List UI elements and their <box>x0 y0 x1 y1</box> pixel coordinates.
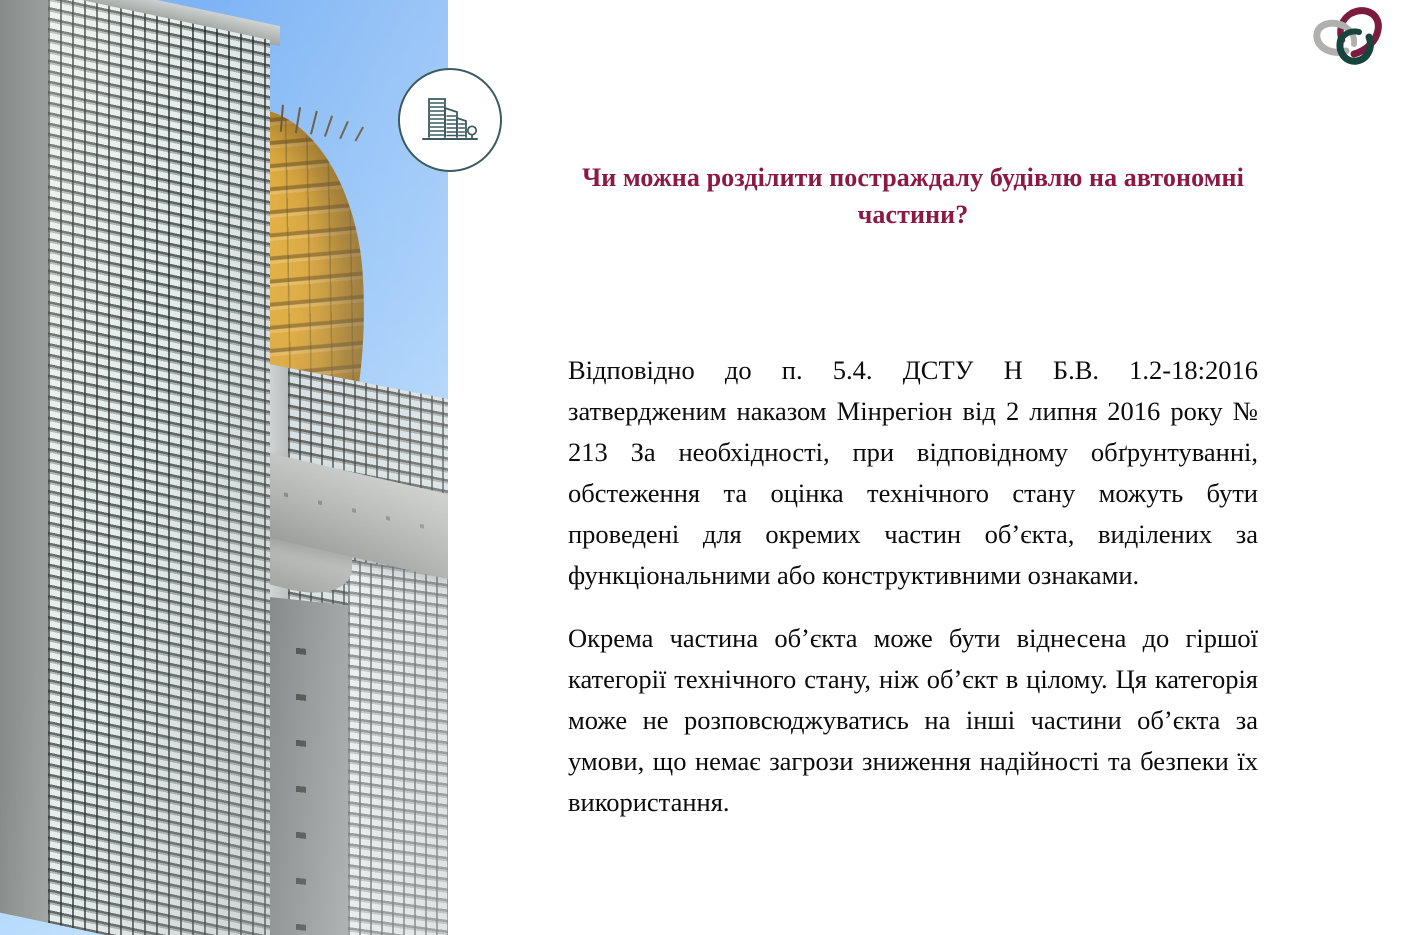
company-triskelion-logo <box>1311 4 1387 70</box>
body-text-block: Відповідно до п. 5.4. ДСТУ Н Б.В. 1.2-18… <box>568 350 1258 823</box>
content-column: Чи можна розділити постраждалу будівлю н… <box>568 0 1258 935</box>
buildings-cityscape-icon <box>398 68 502 172</box>
slide-root: Чи можна розділити постраждалу будівлю н… <box>0 0 1401 935</box>
page-title: Чи можна розділити постраждалу будівлю н… <box>568 160 1258 234</box>
hero-photo <box>0 0 448 935</box>
sky-gradient-overlay <box>0 0 448 935</box>
body-paragraph: Відповідно до п. 5.4. ДСТУ Н Б.В. 1.2-18… <box>568 350 1258 596</box>
body-paragraph: Окрема частина об’єкта може бути віднесе… <box>568 618 1258 823</box>
